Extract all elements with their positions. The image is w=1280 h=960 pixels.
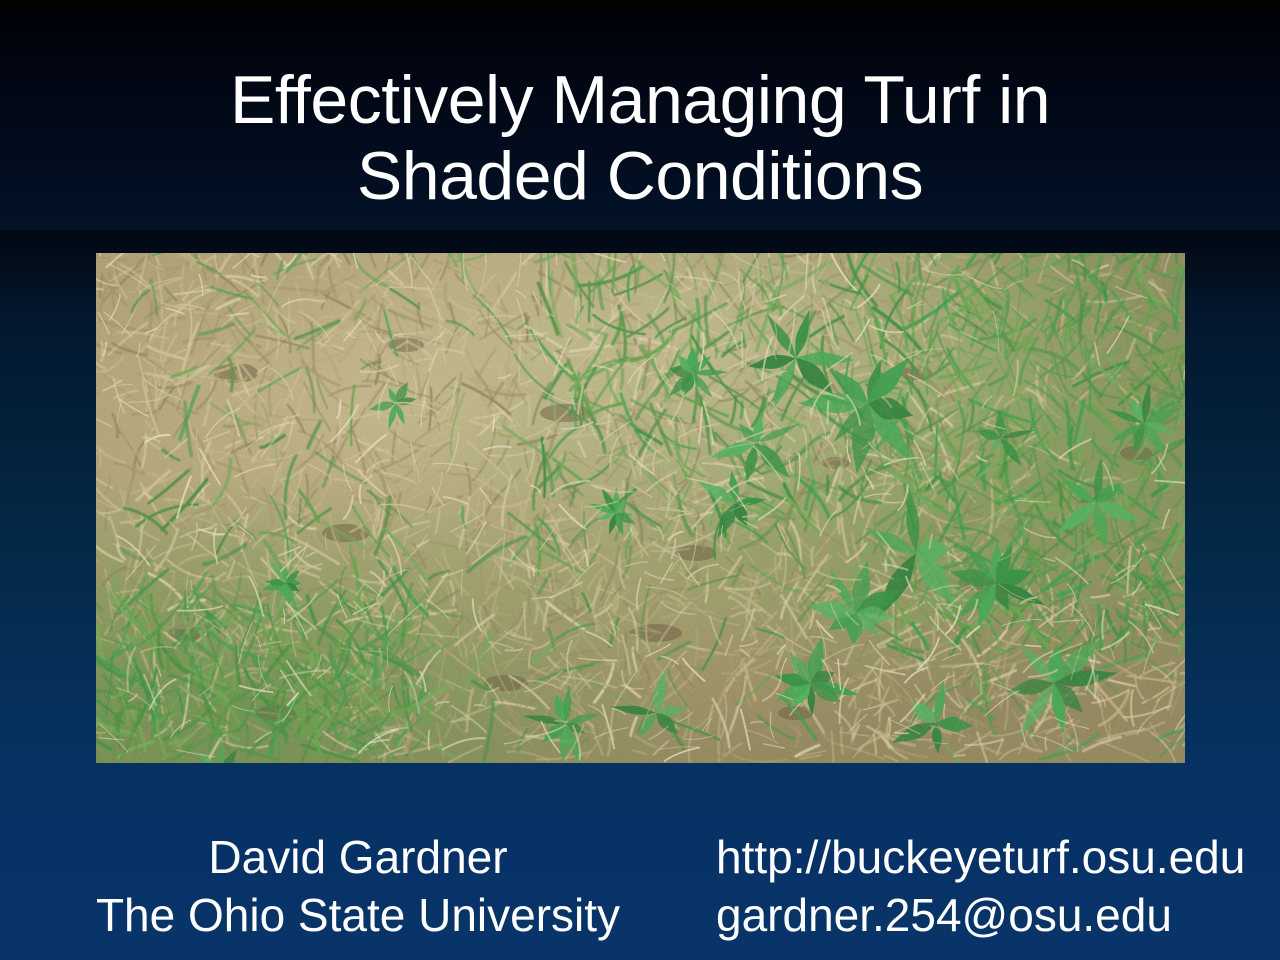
footer: David Gardner The Ohio State University … bbox=[0, 828, 1280, 960]
footer-contact-block: http://buckeyeturf.osu.edu gardner.254@o… bbox=[716, 828, 1276, 944]
footer-author-block: David Gardner The Ohio State University bbox=[8, 828, 708, 944]
email-address[interactable]: gardner.254@osu.edu bbox=[716, 886, 1276, 944]
turfgrass-photo-image bbox=[96, 253, 1185, 763]
turfgrass-photo bbox=[96, 253, 1185, 763]
page-title: Effectively Managing Turf in Shaded Cond… bbox=[0, 66, 1280, 210]
title-slide: Effectively Managing Turf in Shaded Cond… bbox=[0, 0, 1280, 960]
title-line-1: Effectively Managing Turf in bbox=[0, 66, 1280, 134]
title-line-2: Shaded Conditions bbox=[0, 142, 1280, 210]
author-name: David Gardner bbox=[8, 828, 708, 886]
website-url[interactable]: http://buckeyeturf.osu.edu bbox=[716, 828, 1276, 886]
author-affiliation: The Ohio State University bbox=[8, 886, 708, 944]
